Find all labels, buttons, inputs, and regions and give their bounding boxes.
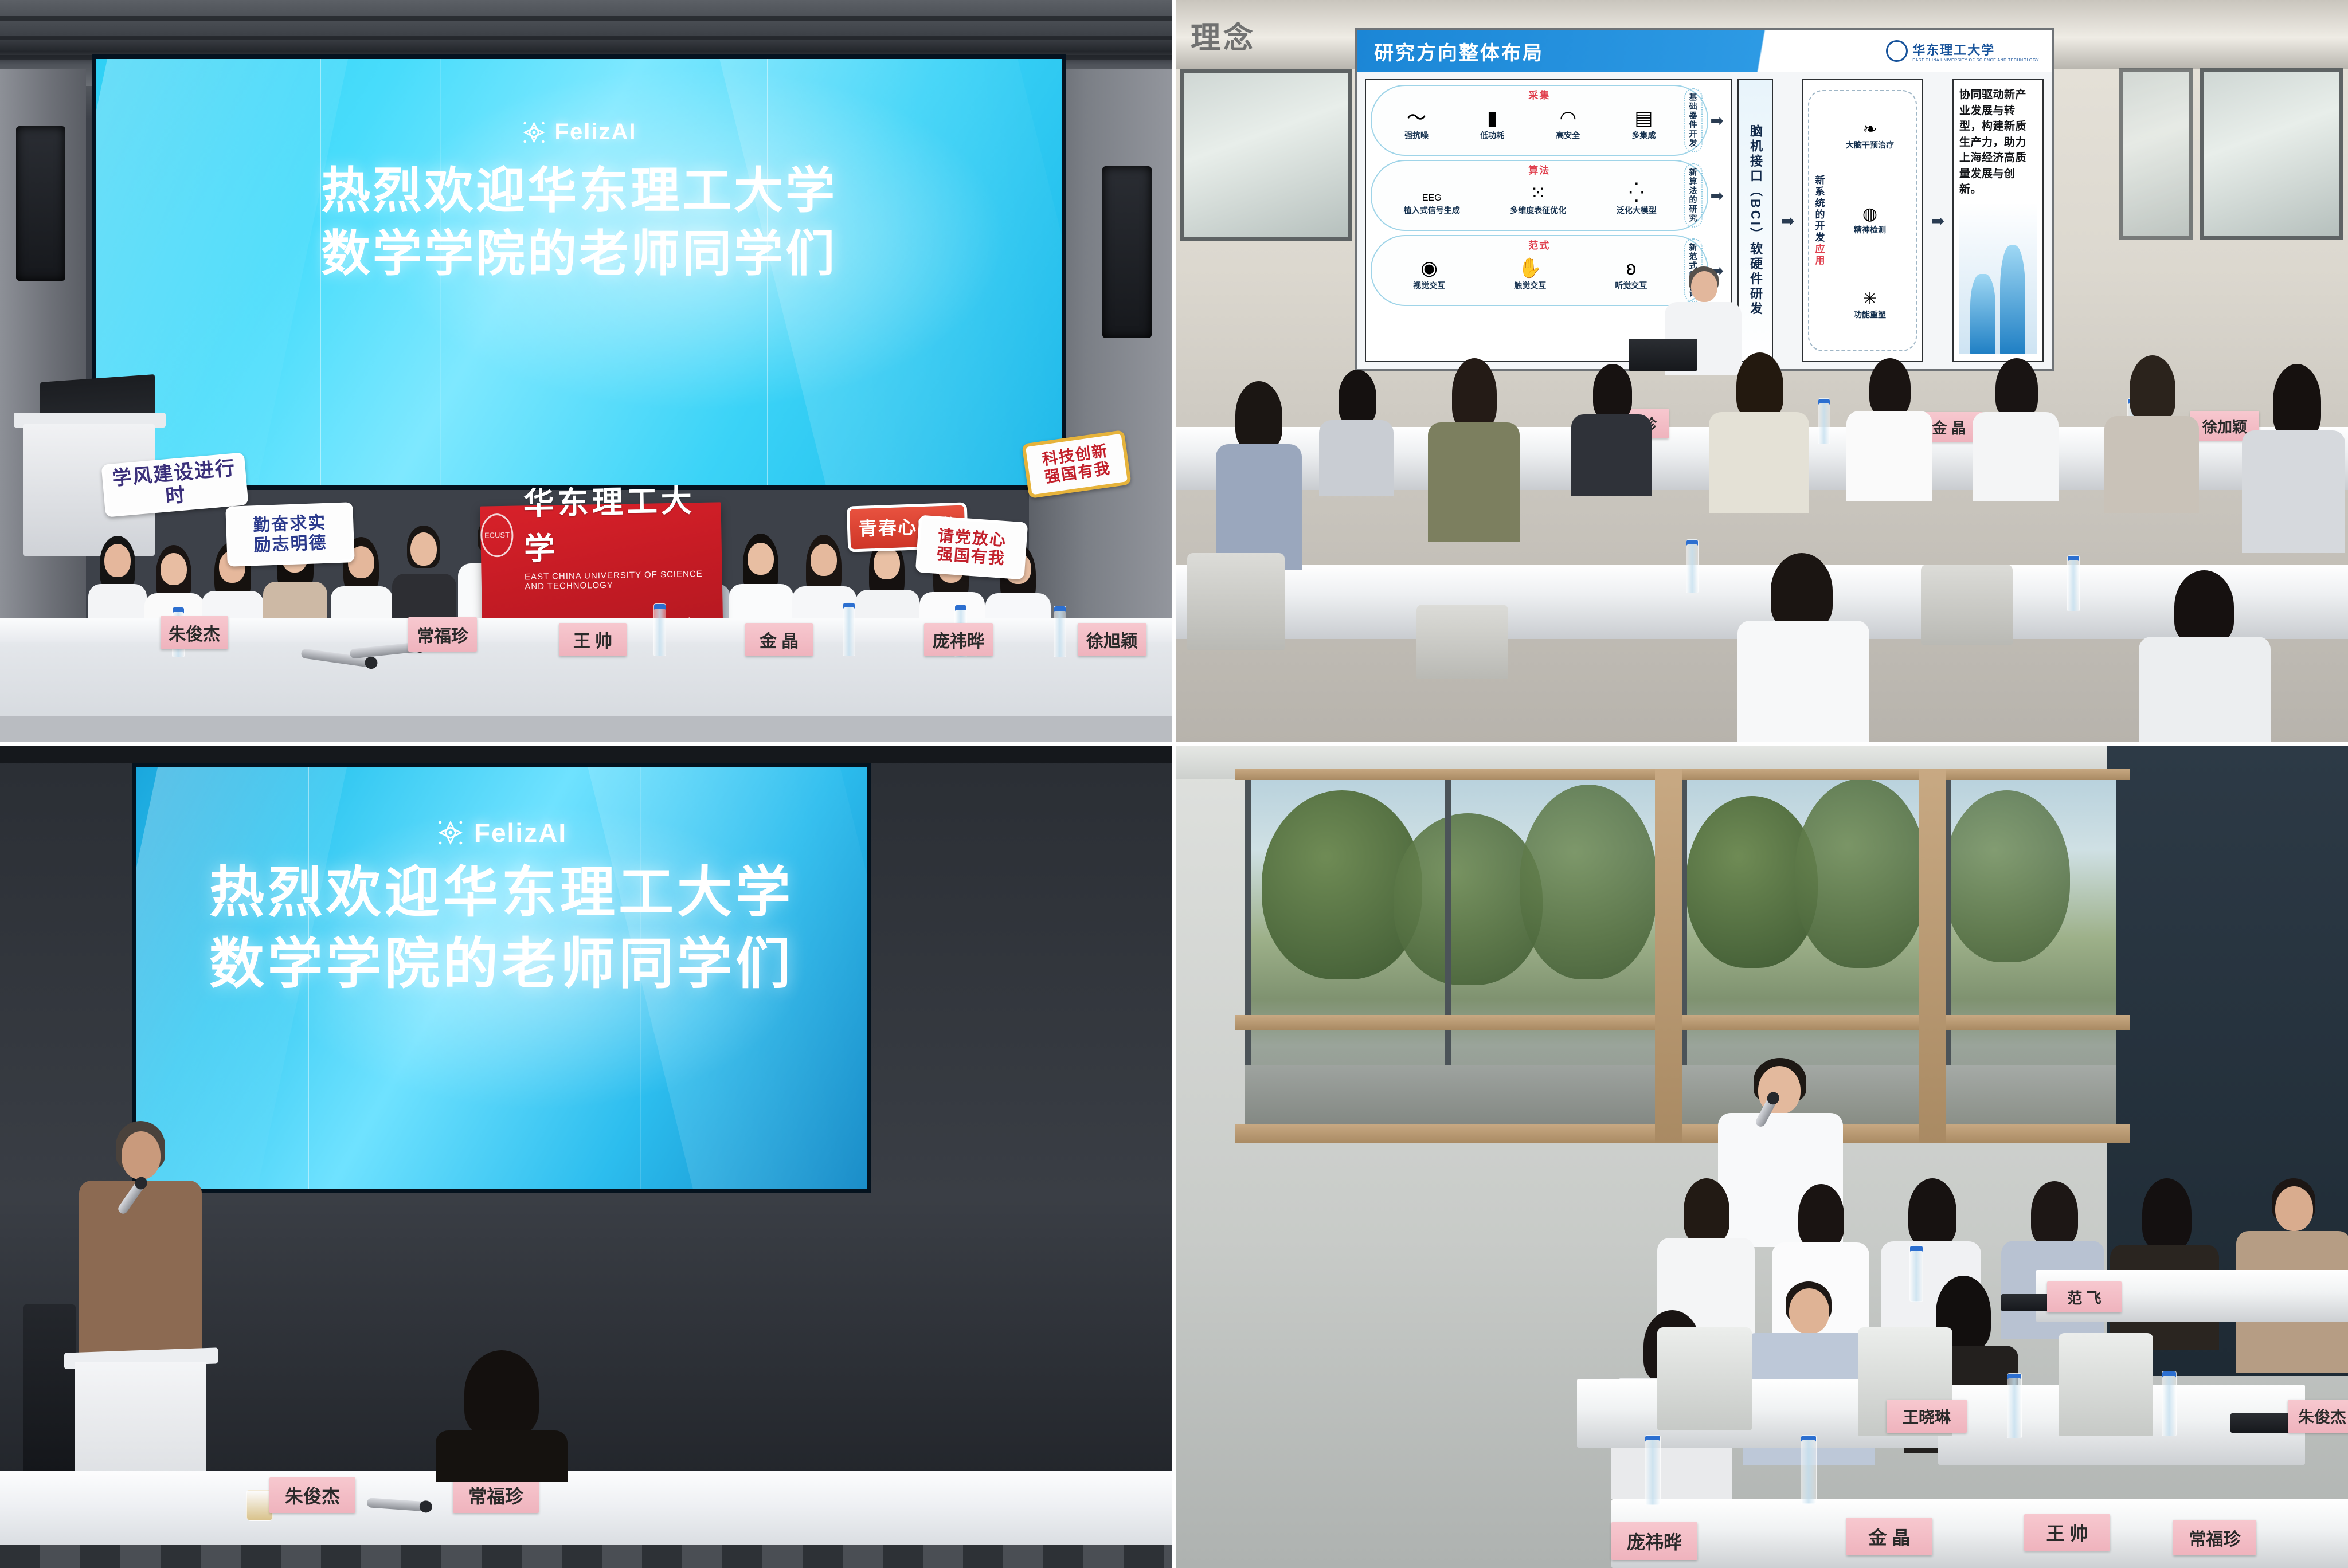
water-bottle (1054, 606, 1066, 657)
chair (1657, 1327, 1752, 1430)
audience-person (1319, 370, 1394, 496)
brain-scan-icon: ◍ (1862, 206, 1877, 223)
item-visual: ◉ 视觉交互 (1413, 258, 1445, 291)
item-auditory: ʚ 听觉交互 (1615, 258, 1647, 291)
nameplate: 徐旭颖 (1078, 623, 1146, 656)
water-bottle (1645, 1435, 1661, 1505)
shanghai-tower-icon (1959, 202, 2037, 354)
photo-collage: FelizAI 热烈欢迎华东理工大学 数学学院的老师同学们 (0, 0, 2348, 1565)
water-bottle (1686, 539, 1699, 593)
nameplate: 王 帅 (2024, 1514, 2110, 1551)
brand-logo: FelizAI (522, 119, 637, 145)
audience-person (2139, 570, 2271, 742)
screen-headline: 热烈欢迎华东理工大学 数学学院的老师同学们 (209, 857, 794, 1001)
arrow-right-icon: ➡ (1931, 211, 1944, 230)
university-seal-icon (1886, 40, 1908, 62)
arrow-right-icon: ➡ (1711, 111, 1724, 130)
brand-name: FelizAI (474, 817, 567, 848)
speaker-panel: FelizAI 热烈欢迎华东理工大学 数学学院的老师同学们 朱俊杰 常福珍 (0, 746, 1172, 1568)
outcome-column: 协同驱动新产业发展与转型，构建新质生产力，助力上海经济高质量发展与创新。 (1952, 79, 2044, 362)
hand-icon: ✋ (1518, 258, 1542, 278)
chair (1921, 565, 2013, 645)
nameplate: 常福珍 (2173, 1520, 2256, 1555)
water-bottle (1909, 1245, 1923, 1302)
nameplate: 金 晶 (745, 623, 813, 656)
sign-diligence: 勤奋求实 励志明德 (225, 502, 355, 567)
audience-person (1571, 364, 1652, 496)
brand-name: FelizAI (555, 119, 637, 145)
slide-title: 研究方向整体布局 (1374, 37, 1544, 65)
item-tactile: ✋ 触觉交互 (1514, 258, 1546, 291)
audience-person (1846, 358, 1932, 501)
item-large-model: ⁛ 泛化大模型 (1617, 183, 1657, 216)
window-right (1944, 779, 2116, 1134)
row-paradigm: 范式 ◉ 视觉交互 ✋ 触觉交互 (1371, 235, 1708, 306)
water-bottle (2007, 1373, 2022, 1438)
water-bottle (1801, 1435, 1817, 1504)
group-photo-panel: FelizAI 热烈欢迎华东理工大学 数学学院的老师同学们 (0, 0, 1172, 742)
chair (1187, 553, 1285, 650)
application-label: 新系统的开发应用 (1811, 175, 1826, 266)
audience-person (1709, 352, 1809, 513)
brand-logo: FelizAI (436, 817, 567, 848)
window-left (1180, 69, 1352, 241)
university-seal-icon: ECUST (480, 513, 514, 557)
nameplate: 王 帅 (559, 623, 627, 656)
bci-label: 脑机接口（BCI）软硬件研发 (1746, 124, 1764, 317)
speaker-cabinet (23, 1304, 76, 1493)
headline-line-2: 数学学院的老师同学们 (209, 929, 794, 1001)
window-frame-post (1919, 769, 1946, 1143)
water-bottle (2067, 555, 2080, 611)
item-integration: ▤ 多集成 (1631, 108, 1656, 141)
window-frame-post (1655, 769, 1682, 1143)
banner-university-cn: 华东理工大学 (523, 475, 722, 569)
nameplate: 王晓琳 (1887, 1400, 1967, 1433)
arrow-right-icon: ➡ (1781, 211, 1794, 230)
battery-icon: ▮ (1487, 108, 1498, 128)
audience-person (1737, 553, 1869, 742)
item-brain-therapy: ❧ 大脑干预治疗 (1846, 121, 1894, 151)
nameplate: 朱俊杰 (161, 616, 228, 649)
row-title: 范式 (1528, 237, 1550, 252)
headline-line-2: 数学学院的老师同学们 (321, 222, 837, 285)
nameplate: 庞祎晔 (1611, 1522, 1697, 1560)
audience-person (436, 1350, 568, 1482)
sign-party-assured: 请党放心 强国有我 (915, 515, 1028, 579)
window-frame-top (1235, 769, 2130, 780)
floor (0, 1545, 1172, 1568)
audience-person (1428, 358, 1520, 542)
audience-person (2104, 355, 2199, 513)
audience-person (1973, 358, 2059, 501)
row-side-label: 基础器件开发 (1684, 88, 1703, 152)
arrow-right-icon: ➡ (1711, 186, 1724, 205)
nameplate: 朱俊杰 (269, 1477, 355, 1513)
water-bottle (1818, 398, 1830, 444)
nameplate: 庞祎晔 (924, 623, 993, 656)
chair (2059, 1333, 2153, 1436)
window-right (2200, 68, 2343, 240)
item-mental-detection: ◍ 精神检测 (1854, 206, 1886, 236)
row-title: 算法 (1528, 162, 1550, 177)
window-left (1245, 779, 1657, 1134)
presentation-panel: 理念 研究方向整体布局 华东理工大学 EAST CHINA UNIVERSITY… (1176, 0, 2348, 742)
water-bottle (653, 603, 666, 656)
nameplate: 朱俊杰 (2288, 1400, 2348, 1433)
eye-icon: ◉ (1420, 258, 1438, 278)
scatter-icon: ⁙ (1530, 183, 1547, 203)
window-frame-rail (1235, 1015, 2130, 1030)
brain-icon: ❧ (1862, 121, 1877, 138)
nameplate: 常福珍 (408, 617, 477, 652)
university-name-en: EAST CHINA UNIVERSITY OF SCIENCE AND TEC… (1912, 58, 2039, 62)
chip-stack-icon: ▤ (1634, 108, 1653, 128)
classroom-panel: 庞祎晔 金 晶 王 帅 王晓琳 常福珍 范 飞 朱俊杰 (1176, 746, 2348, 1568)
screen-headline: 热烈欢迎华东理工大学 数学学院的老师同学们 (321, 159, 837, 285)
audience-person (2110, 1178, 2219, 1350)
speaker-right (1102, 166, 1152, 338)
wall-text: 理念 (1191, 14, 1256, 57)
application-column: 新系统的开发应用 ❧ 大脑干预治疗 ◍ 精神检测 (1802, 79, 1923, 362)
item-anti-noise: 〜 强抗噪 (1404, 108, 1429, 141)
headline-line-1: 热烈欢迎华东理工大学 (209, 857, 794, 929)
water-bottle (843, 602, 855, 656)
waveform-icon: 〜 (1407, 108, 1426, 128)
slide-title-bar: 研究方向整体布局 华东理工大学 EAST CHINA UNIVERSITY OF… (1357, 30, 2052, 72)
item-function-remodel: ✳ 功能重塑 (1854, 291, 1886, 320)
speaker-left (16, 126, 65, 281)
item-multidim: ⁙ 多维度表征优化 (1510, 183, 1566, 216)
led-screen: FelizAI 热烈欢迎华东理工大学 数学学院的老师同学们 (92, 54, 1066, 490)
eeg-icon: EEG (1422, 194, 1442, 203)
floor (0, 716, 1172, 742)
water-bottle (2162, 1371, 2177, 1436)
network-icon: ⁛ (1629, 183, 1644, 203)
headline-line-1: 热烈欢迎华东理工大学 (321, 159, 837, 222)
row-acquisition: 采集 〜 强抗噪 ▮ 低功耗 (1371, 85, 1708, 156)
led-screen: FelizAI 热烈欢迎华东理工大学 数学学院的老师同学们 (132, 763, 871, 1193)
chair (1416, 605, 1508, 679)
outcome-text: 协同驱动新产业发展与转型，构建新质生产力，助力上海经济高质量发展与创新。 (1959, 87, 2037, 198)
university-name-cn: 华东理工大学 (1912, 43, 1995, 57)
audience-person (2242, 364, 2345, 553)
item-low-power: ▮ 低功耗 (1480, 108, 1504, 141)
window-frame-bottom (1235, 1124, 2130, 1143)
nameplate: 金 晶 (1846, 1518, 1932, 1555)
window-right-2 (2119, 68, 2193, 240)
university-logo: 华东理工大学 EAST CHINA UNIVERSITY OF SCIENCE … (1886, 40, 2039, 62)
diamond-star-icon (436, 818, 465, 847)
item-high-safety: ◠ 高安全 (1556, 108, 1580, 141)
row-side-label: 新算法的研究 (1684, 163, 1703, 228)
headset-icon: ◠ (1559, 108, 1576, 128)
nameplate: 范 飞 (2047, 1281, 2122, 1312)
row-algorithm: 算法 EEG 植入式信号生成 ⁙ 多维度表征优化 (1371, 160, 1708, 231)
ear-icon: ʚ (1626, 258, 1636, 278)
item-implant-signal: EEG 植入式信号生成 (1404, 194, 1460, 216)
row-title: 采集 (1528, 87, 1550, 101)
banner-university-en: EAST CHINA UNIVERSITY OF SCIENCE AND TEC… (525, 569, 722, 591)
nameplate: 常福珍 (453, 1477, 539, 1513)
neuron-icon: ✳ (1862, 291, 1877, 308)
ceiling (0, 746, 1172, 763)
audience-person (1216, 381, 1302, 570)
diamond-star-icon (522, 120, 547, 145)
